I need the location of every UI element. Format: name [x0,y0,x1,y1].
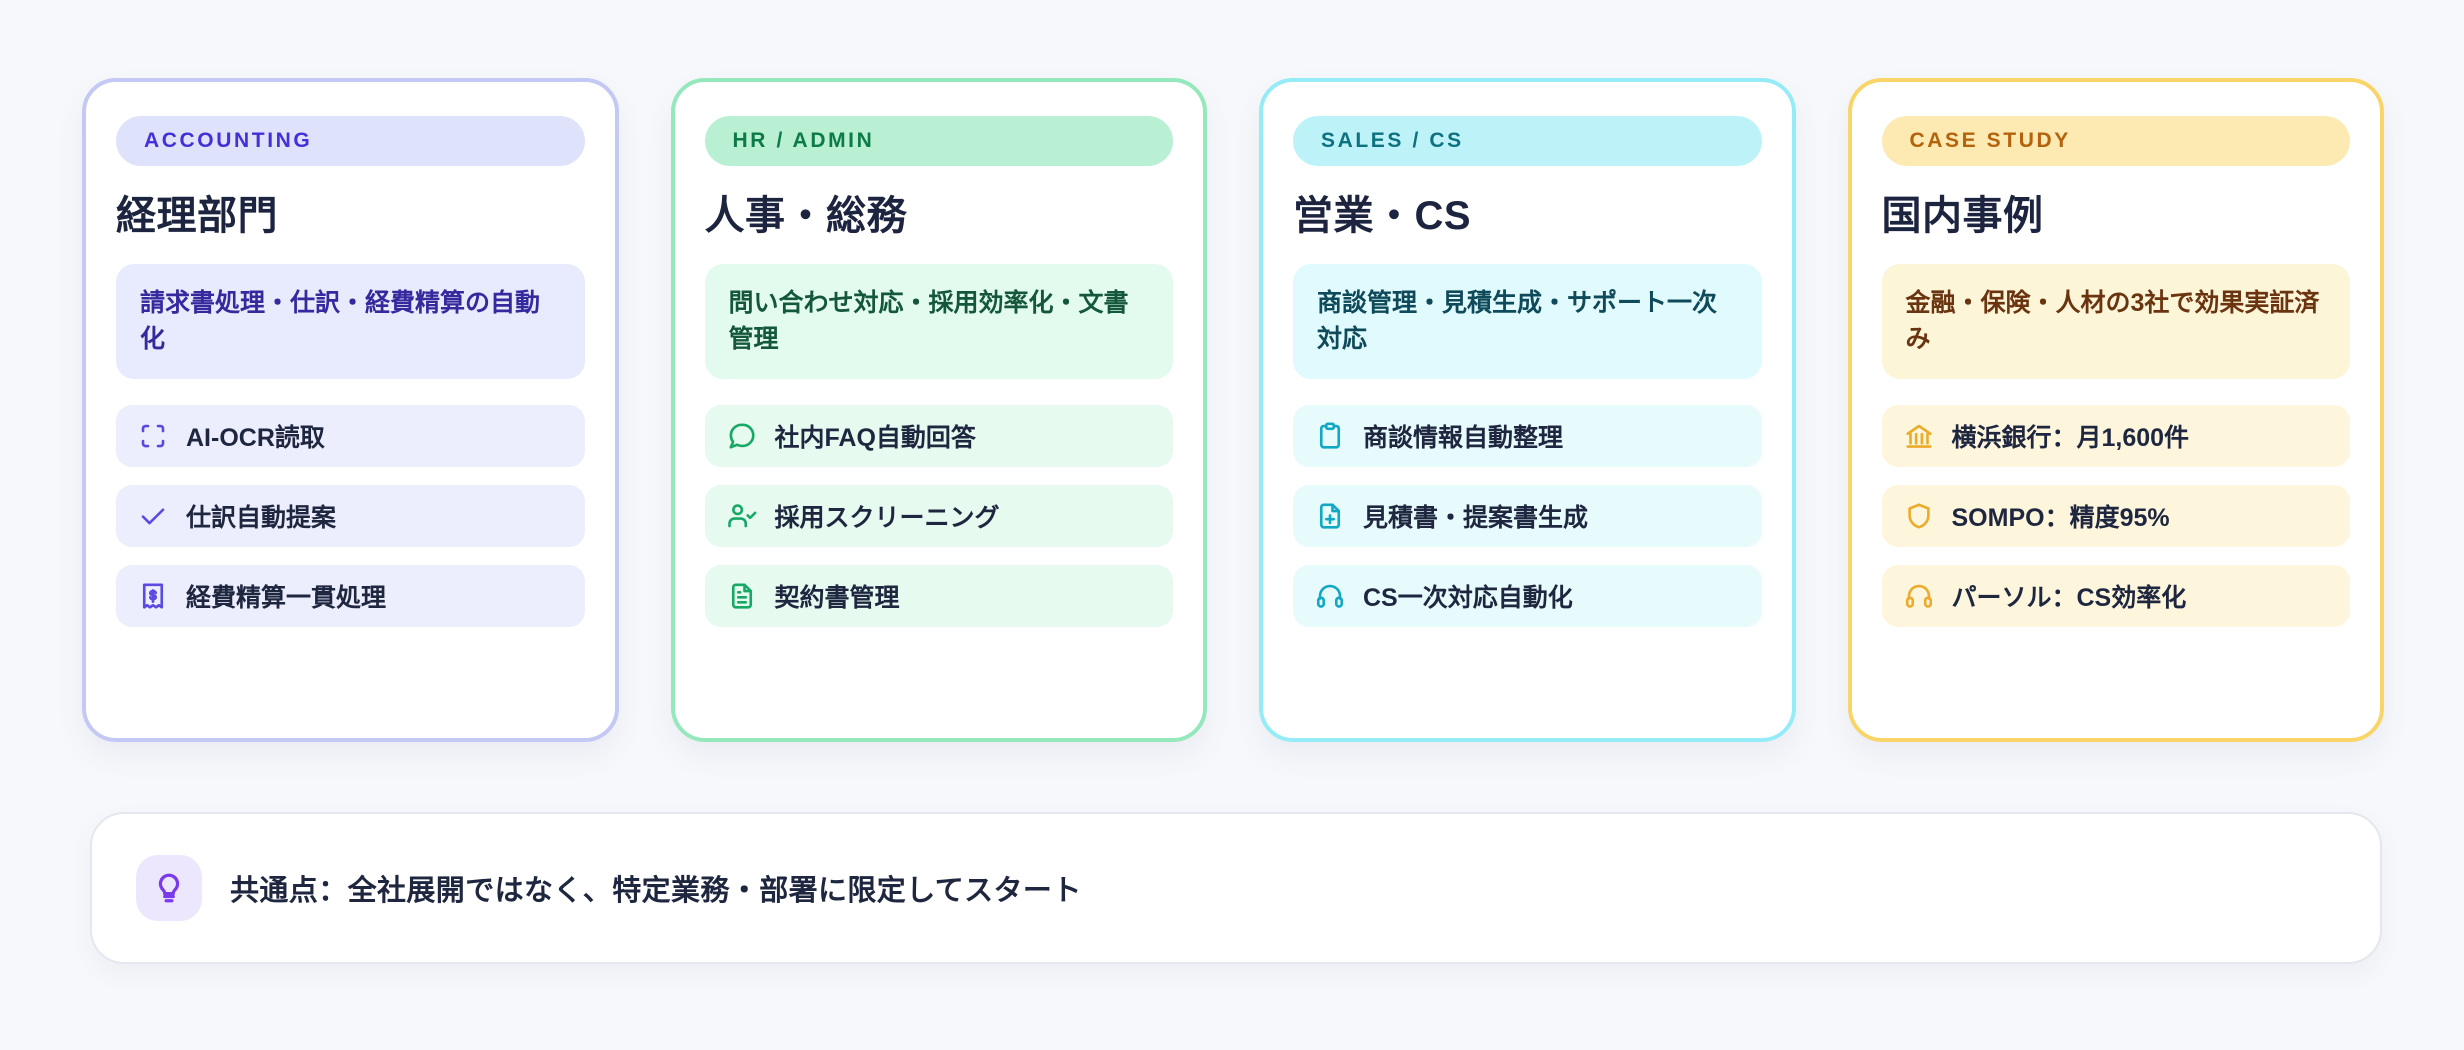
feature-label: パーソル：CS効率化 [1952,578,2187,614]
card-title: 営業・CS [1293,194,1762,238]
feature-item[interactable]: 経費精算一貫処理 [116,565,585,627]
scan-icon [138,421,168,451]
clipboard-icon [1315,421,1345,451]
card-feature-list: 商談情報自動整理見積書・提案書生成CS一次対応自動化 [1293,405,1762,627]
card-badge: SALES / CS [1293,116,1762,166]
feature-label: 契約書管理 [775,578,900,614]
feature-label: SOMPO：精度95% [1952,498,2170,534]
feature-label: 見積書・提案書生成 [1363,498,1588,534]
file-plus-icon [1315,501,1345,531]
card-feature-list: AI-OCR読取仕訳自動提案経費精算一貫処理 [116,405,585,627]
feature-label: 横浜銀行：月1,600件 [1952,418,2190,454]
common-point-note-bar: 共通点：全社展開ではなく、特定業務・部署に限定してスタート [90,812,2382,964]
card-title: 人事・総務 [705,194,1174,238]
card-badge: CASE STUDY [1882,116,2351,166]
card-badge: HR / ADMIN [705,116,1174,166]
feature-item[interactable]: 横浜銀行：月1,600件 [1882,405,2351,467]
feature-item[interactable]: AI-OCR読取 [116,405,585,467]
card-badge: ACCOUNTING [116,116,585,166]
common-point-note-text: 共通点：全社展開ではなく、特定業務・部署に限定してスタート [230,867,1082,909]
feature-item[interactable]: SOMPO：精度95% [1882,485,2351,547]
feature-item[interactable]: 見積書・提案書生成 [1293,485,1762,547]
department-card-row: ACCOUNTING経理部門請求書処理・仕訳・経費精算の自動化AI-OCR読取仕… [82,78,2384,742]
card-title: 国内事例 [1882,194,2351,238]
department-card[interactable]: SALES / CS営業・CS商談管理・見積生成・サポート一次対応商談情報自動整… [1259,78,1796,742]
feature-label: 商談情報自動整理 [1363,418,1563,454]
feature-item[interactable]: 商談情報自動整理 [1293,405,1762,467]
feature-label: 経費精算一貫処理 [186,578,386,614]
feature-item[interactable]: CS一次対応自動化 [1293,565,1762,627]
headset-icon [1315,581,1345,611]
feature-label: 社内FAQ自動回答 [775,418,976,454]
shield-icon [1904,501,1934,531]
feature-label: 仕訳自動提案 [186,498,336,534]
feature-item[interactable]: パーソル：CS効率化 [1882,565,2351,627]
feature-item[interactable]: 社内FAQ自動回答 [705,405,1174,467]
slide-root: ACCOUNTING経理部門請求書処理・仕訳・経費精算の自動化AI-OCR読取仕… [0,0,2464,1050]
bank-icon [1904,421,1934,451]
lightbulb-icon [136,855,202,921]
card-highlight: 金融・保険・人材の3社で効果実証済み [1882,264,2351,379]
feature-label: CS一次対応自動化 [1363,578,1573,614]
card-feature-list: 社内FAQ自動回答採用スクリーニング契約書管理 [705,405,1174,627]
card-feature-list: 横浜銀行：月1,600件SOMPO：精度95%パーソル：CS効率化 [1882,405,2351,627]
feature-label: 採用スクリーニング [775,498,1000,534]
user-check-icon [727,501,757,531]
document-icon [727,581,757,611]
card-highlight: 請求書処理・仕訳・経費精算の自動化 [116,264,585,379]
check-icon [138,501,168,531]
receipt-icon [138,581,168,611]
card-title: 経理部門 [116,194,585,238]
feature-label: AI-OCR読取 [186,418,325,454]
department-card[interactable]: HR / ADMIN人事・総務問い合わせ対応・採用効率化・文書管理社内FAQ自動… [671,78,1208,742]
feature-item[interactable]: 仕訳自動提案 [116,485,585,547]
card-highlight: 問い合わせ対応・採用効率化・文書管理 [705,264,1174,379]
headset-icon [1904,581,1934,611]
card-highlight: 商談管理・見積生成・サポート一次対応 [1293,264,1762,379]
chat-bubble-icon [727,421,757,451]
feature-item[interactable]: 契約書管理 [705,565,1174,627]
feature-item[interactable]: 採用スクリーニング [705,485,1174,547]
department-card[interactable]: ACCOUNTING経理部門請求書処理・仕訳・経費精算の自動化AI-OCR読取仕… [82,78,619,742]
department-card[interactable]: CASE STUDY国内事例金融・保険・人材の3社で効果実証済み横浜銀行：月1,… [1848,78,2385,742]
